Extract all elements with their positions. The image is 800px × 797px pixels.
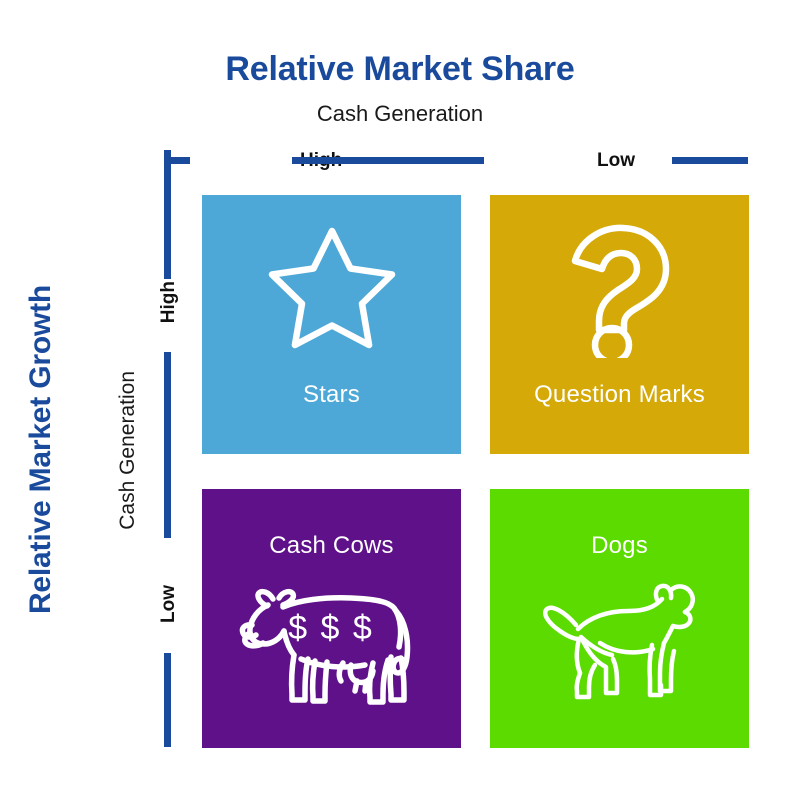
cow-icon: $ $ $ <box>239 581 424 706</box>
dog-icon <box>540 581 700 701</box>
question-mark-icon <box>565 223 675 358</box>
quadrant-dogs[interactable]: Dogs <box>490 489 749 748</box>
quadrant-label-dogs: Dogs <box>490 532 749 560</box>
y-axis-segment-middle <box>164 352 171 538</box>
dog-icon-wrap <box>490 581 749 701</box>
y-axis-subtitle-wrap: Cash Generation <box>108 160 148 740</box>
quadrant-label-stars: Stars <box>202 381 461 409</box>
star-icon-wrap <box>202 223 461 349</box>
quadrant-label-cash-cows: Cash Cows <box>202 532 461 560</box>
x-axis-tick-low: Low <box>597 150 635 171</box>
y-axis-subtitle: Cash Generation <box>116 371 140 530</box>
y-axis-title-wrap: Relative Market Growth <box>18 160 64 740</box>
x-axis-segment-right <box>672 157 748 164</box>
quadrant-question-marks[interactable]: Question Marks <box>490 195 749 454</box>
y-axis: High Low <box>160 153 182 747</box>
y-axis-tick-high: High <box>158 281 179 323</box>
question-mark-icon-wrap <box>490 223 749 358</box>
y-axis-segment-top <box>164 153 171 279</box>
y-axis-segment-bottom <box>164 653 171 747</box>
cow-money-text: $ $ $ <box>288 609 374 647</box>
x-axis: High Low <box>164 150 748 172</box>
page-subtitle: Cash Generation <box>0 101 800 127</box>
quadrant-label-question-marks: Question Marks <box>490 381 749 409</box>
y-axis-title: Relative Market Growth <box>24 285 58 614</box>
star-icon <box>267 223 397 349</box>
y-axis-tick-low: Low <box>158 585 179 623</box>
page-title: Relative Market Share <box>0 50 800 89</box>
x-axis-segment-middle <box>292 157 484 164</box>
quadrant-cash-cows[interactable]: Cash Cows <box>202 489 461 748</box>
cow-icon-wrap: $ $ $ <box>202 581 461 706</box>
quadrant-stars[interactable]: Stars <box>202 195 461 454</box>
